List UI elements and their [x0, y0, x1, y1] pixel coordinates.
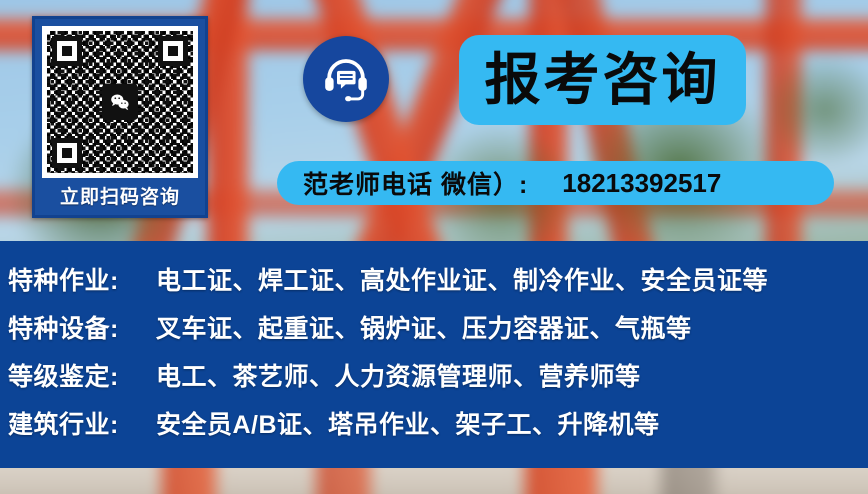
qr-code-matrix: [47, 31, 193, 173]
info-row: 特种作业: 电工证、焊工证、高处作业证、制冷作业、安全员证等: [8, 261, 868, 309]
info-row: 建筑行业: 安全员A/B证、塔吊作业、架子工、升降机等: [8, 405, 868, 453]
qr-code-caption: 立即扫码咨询: [42, 178, 198, 218]
info-row: 等级鉴定: 电工、茶艺师、人力资源管理师、营养师等: [8, 357, 868, 405]
info-row-label: 建筑行业:: [8, 405, 156, 441]
promo-poster: 立即扫码咨询 报考咨询 范老师电话 微信）: 18213392517 特种作业:…: [0, 0, 868, 494]
contact-pill[interactable]: 范老师电话 微信）: 18213392517: [277, 161, 834, 205]
main-title-pill: 报考咨询: [459, 35, 746, 125]
info-row-label: 等级鉴定:: [8, 357, 156, 393]
headset-support-icon: [303, 36, 389, 122]
contact-label: 范老师电话 微信）:: [303, 165, 528, 201]
info-row-label: 特种作业:: [8, 261, 156, 297]
qr-finder-top-right-icon: [158, 36, 188, 66]
info-row-value: 电工证、焊工证、高处作业证、制冷作业、安全员证等: [156, 261, 768, 297]
info-row-label: 特种设备:: [8, 309, 156, 345]
wechat-icon: [102, 84, 138, 120]
info-row-value: 电工、茶艺师、人力资源管理师、营养师等: [156, 357, 641, 393]
contact-phone-number[interactable]: 18213392517: [562, 168, 721, 199]
certificate-categories-band: 特种作业: 电工证、焊工证、高处作业证、制冷作业、安全员证等 特种设备: 叉车证…: [0, 241, 868, 468]
info-row-value: 叉车证、起重证、锅炉证、压力容器证、气瓶等: [156, 309, 692, 345]
qr-code-white-frame: [42, 26, 198, 178]
qr-code-card[interactable]: 立即扫码咨询: [32, 16, 208, 218]
qr-finder-bottom-left-icon: [52, 138, 82, 168]
info-row-value: 安全员A/B证、塔吊作业、架子工、升降机等: [156, 405, 660, 441]
page-title: 报考咨询: [485, 52, 721, 108]
info-row: 特种设备: 叉车证、起重证、锅炉证、压力容器证、气瓶等: [8, 309, 868, 357]
qr-finder-top-left-icon: [52, 36, 82, 66]
